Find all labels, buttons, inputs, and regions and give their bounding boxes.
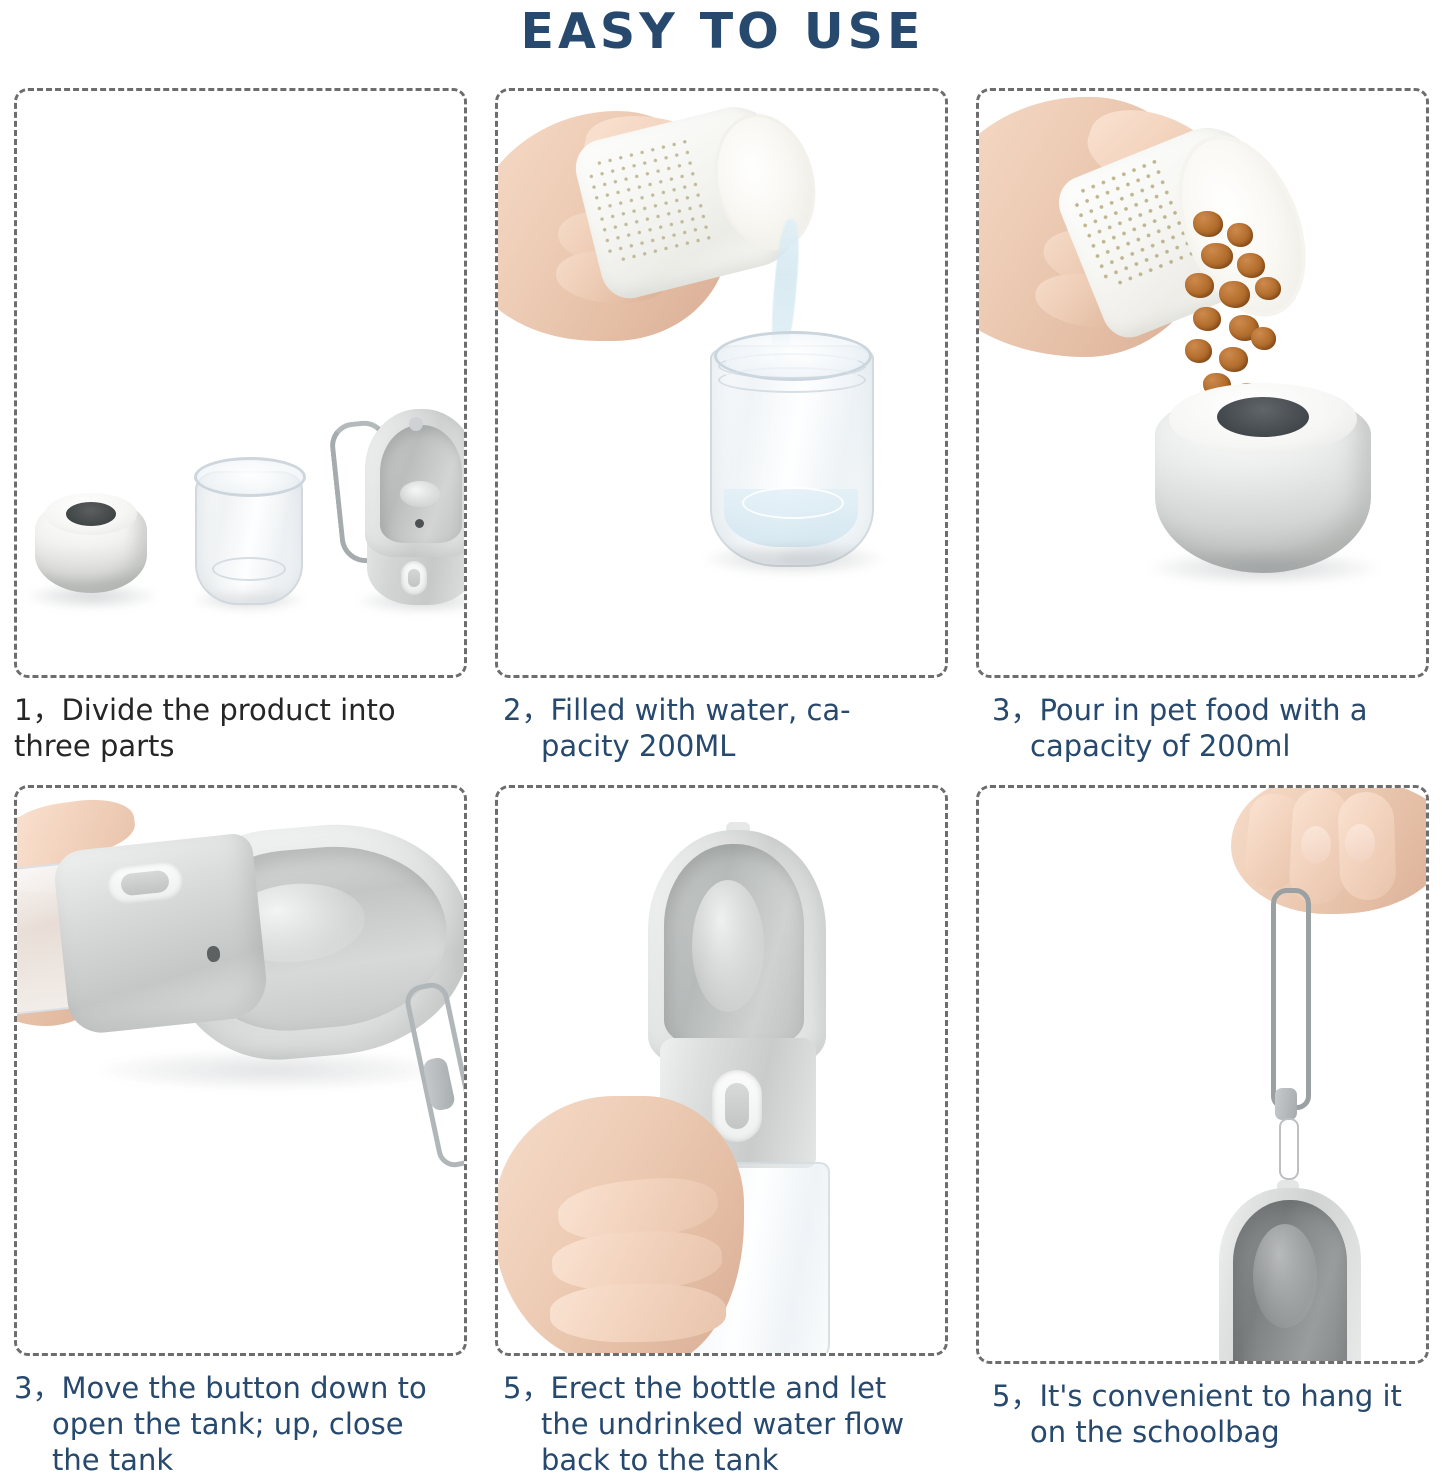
step-caption-6: 5，It's convenient to hang it on the scho… [962,1364,1443,1450]
bottle-thread [718,367,866,393]
lanyard-ferrule [1275,1088,1297,1120]
scene-fill-food [979,91,1426,675]
step-number-4: 3， [14,1371,61,1405]
step-caption-1: 1，Divide the product into three parts [0,678,481,764]
lanyard-anchor [409,417,423,431]
step-image-panel-2 [495,88,948,678]
kibble [1193,307,1221,331]
finger [550,1282,727,1343]
scene-fill-water [498,91,945,675]
step-card-6: 5，It's convenient to hang it on the scho… [962,785,1443,1478]
bowl-highlight [400,481,440,507]
step-image-panel-4 [14,785,467,1356]
steps-grid: 1，Divide the product into three parts [0,88,1445,1478]
kibble [1185,273,1214,298]
step-number-5: 5， [503,1371,550,1405]
kibble [1255,277,1281,300]
step-caption-3-line1: 3，Pour in pet food with a [992,692,1435,728]
step-image-panel-6 [976,785,1429,1364]
kibble [1201,243,1233,269]
lanyard-strap [1271,888,1311,1110]
step-caption-1-line1: 1，Divide the product into [14,692,473,728]
step-caption-3-line2: capacity of 200ml [992,728,1435,764]
step-caption-5-line1: 5，Erect the bottle and let [503,1370,954,1406]
step-card-5: 5，Erect the bottle and let the undrinked… [481,785,962,1478]
bowl-highlight [692,880,764,1012]
shadow-product [97,1050,447,1090]
food-container-seal [66,502,116,526]
step-caption-5: 5，Erect the bottle and let the undrinked… [481,1356,962,1478]
step-caption-4: 3，Move the button down to open the tank;… [0,1356,481,1478]
step-number-2: 2， [503,693,550,727]
slider-button [401,561,427,595]
step-number-3: 3， [992,693,1039,727]
step-image-panel-5 [495,785,948,1356]
step-image-panel-1 [14,88,467,678]
scene-erect-bottle [498,788,945,1353]
step-caption-4-line1: 3，Move the button down to [14,1370,473,1406]
step-number-6: 5， [992,1379,1039,1413]
step-caption-2-line1: 2，Filled with water, ca- [503,692,954,728]
step-caption-4-line3: the tank [14,1442,473,1478]
step-caption-5-line2: the undrinked water flow [503,1406,954,1442]
food-container-opening [1217,397,1309,437]
kibble [1237,253,1265,278]
kibble [1251,327,1276,350]
step-caption-1-line2: three parts [14,728,473,764]
step-caption-6-line2: on the schoolbag [992,1414,1435,1450]
scene-hang-bottle [979,788,1426,1361]
page-title: EASY TO USE [0,0,1445,62]
step-caption-4-line2: open the tank; up, close [14,1406,473,1442]
step-card-4: 3，Move the button down to open the tank;… [0,785,481,1478]
lanyard-loop [1279,1118,1299,1180]
kibble [1219,281,1250,308]
fingernail [1301,826,1331,864]
shadow-bottle [704,543,884,575]
step-number-1: 1， [14,693,61,727]
scene-three-parts [17,91,464,675]
steps-row-top: 1，Divide the product into three parts [0,88,1445,785]
kibble [1185,339,1212,363]
step-card-3: 3，Pour in pet food with a capacity of 20… [962,88,1443,785]
kibble [1227,223,1253,247]
step-caption-5-line3: back to the tank [503,1442,954,1478]
step-card-2: 2，Filled with water, ca- pacity 200ML [481,88,962,785]
steps-row-bottom: 3，Move the button down to open the tank;… [0,785,1445,1478]
step-card-1: 1，Divide the product into three parts [0,88,481,785]
kibble [1219,347,1248,372]
shadow-base [1149,551,1379,585]
water-ripple [742,487,844,519]
step-caption-3: 3，Pour in pet food with a capacity of 20… [962,678,1443,764]
step-caption-6-line1: 5，It's convenient to hang it [992,1378,1435,1414]
fingernail [1345,824,1375,862]
step-image-panel-3 [976,88,1429,678]
scene-open-tank [17,788,464,1353]
water-outlet-hole [415,519,424,528]
slider-button [712,1070,762,1142]
clear-bottle-base-ring [212,557,286,581]
step-caption-2: 2，Filled with water, ca- pacity 200ML [481,678,962,764]
step-caption-2-line2: pacity 200ML [503,728,954,764]
bowl-highlight [1253,1224,1317,1328]
clear-bottle-rim [194,457,306,497]
kibble [1193,211,1223,237]
